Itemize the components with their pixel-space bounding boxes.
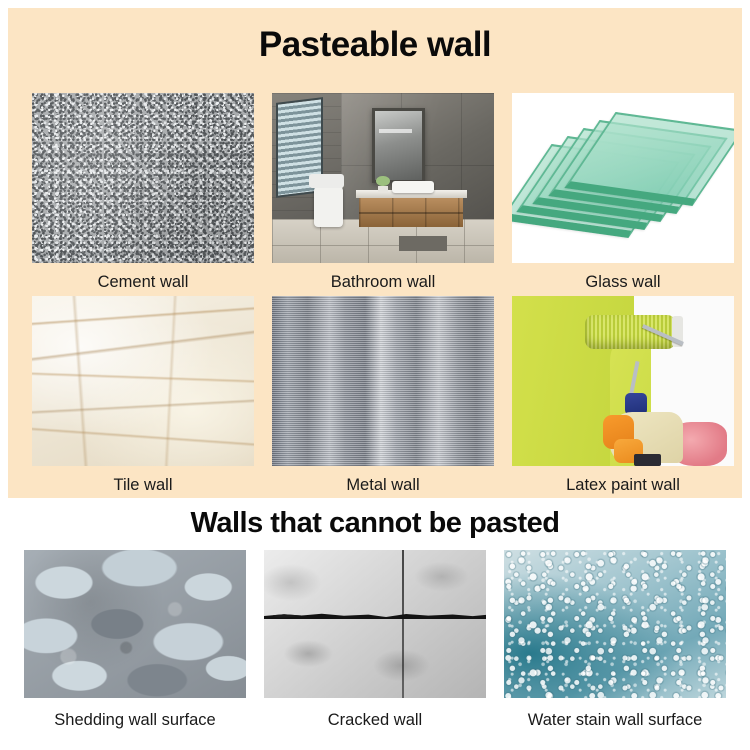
wall-card-latex-paint: Latex paint wall — [512, 296, 734, 495]
not-pasteable-row: Shedding wall surface Cracked wall Water… — [24, 550, 726, 730]
marble-tile-art — [32, 296, 254, 466]
pasteable-section-title: Pasteable wall — [8, 8, 742, 65]
latex-paint-wall-label: Latex paint wall — [566, 475, 680, 495]
pasteable-row-1: Cement wall — [32, 93, 734, 292]
tile-wall-image — [32, 296, 254, 466]
mirror-icon — [372, 108, 425, 183]
tile-wall-label: Tile wall — [114, 475, 173, 495]
cement-wall-label: Cement wall — [98, 272, 189, 292]
water-stain-wall-label: Water stain wall surface — [528, 710, 703, 730]
cracked-wall-image — [264, 550, 486, 698]
infographic-page: Pasteable wall Cement wall — [0, 0, 750, 750]
pasteable-row-2: Tile wall Metal wall — [32, 296, 734, 495]
concrete-crack-art — [264, 550, 486, 698]
horizontal-crack-line — [264, 612, 486, 619]
cement-wall-image — [32, 93, 254, 263]
vanity-cabinet — [359, 198, 463, 227]
floor-mat — [399, 236, 448, 251]
paint-roller-scene-art — [512, 296, 734, 466]
wall-card-shedding: Shedding wall surface — [24, 550, 246, 730]
wall-card-bathroom: Bathroom wall — [272, 93, 494, 292]
peeling-paint-art — [24, 550, 246, 698]
wall-card-tile: Tile wall — [32, 296, 254, 495]
water-stain-wall-image — [504, 550, 726, 698]
wall-card-glass: Glass wall — [512, 93, 734, 292]
brushed-metal-art — [272, 296, 494, 466]
roller-label-tag — [634, 454, 661, 466]
wall-card-cracked: Cracked wall — [264, 550, 486, 730]
glass-wall-label: Glass wall — [585, 272, 660, 292]
shedding-wall-label: Shedding wall surface — [54, 710, 215, 730]
wall-card-water-stain: Water stain wall surface — [504, 550, 726, 730]
water-droplets-art — [504, 550, 726, 698]
bathroom-wall-label: Bathroom wall — [331, 272, 436, 292]
metal-wall-image — [272, 296, 494, 466]
wall-card-cement: Cement wall — [32, 93, 254, 292]
metal-wall-label: Metal wall — [346, 475, 419, 495]
shedding-wall-image — [24, 550, 246, 698]
pasteable-wall-section: Pasteable wall Cement wall — [8, 8, 742, 498]
latex-paint-wall-image — [512, 296, 734, 466]
cracked-wall-label: Cracked wall — [328, 710, 422, 730]
toilet-icon — [314, 185, 343, 228]
vertical-crack-line — [402, 550, 404, 698]
potted-plant-icon — [376, 176, 389, 191]
not-pasteable-section-title: Walls that cannot be pasted — [0, 505, 750, 541]
glass-panels-art — [512, 93, 734, 263]
sink-basin-icon — [392, 181, 434, 193]
bathroom-scene-art — [272, 93, 494, 263]
glass-wall-image — [512, 93, 734, 263]
cement-texture-art — [32, 93, 254, 263]
wall-card-metal: Metal wall — [272, 296, 494, 495]
bathroom-wall-image — [272, 93, 494, 263]
